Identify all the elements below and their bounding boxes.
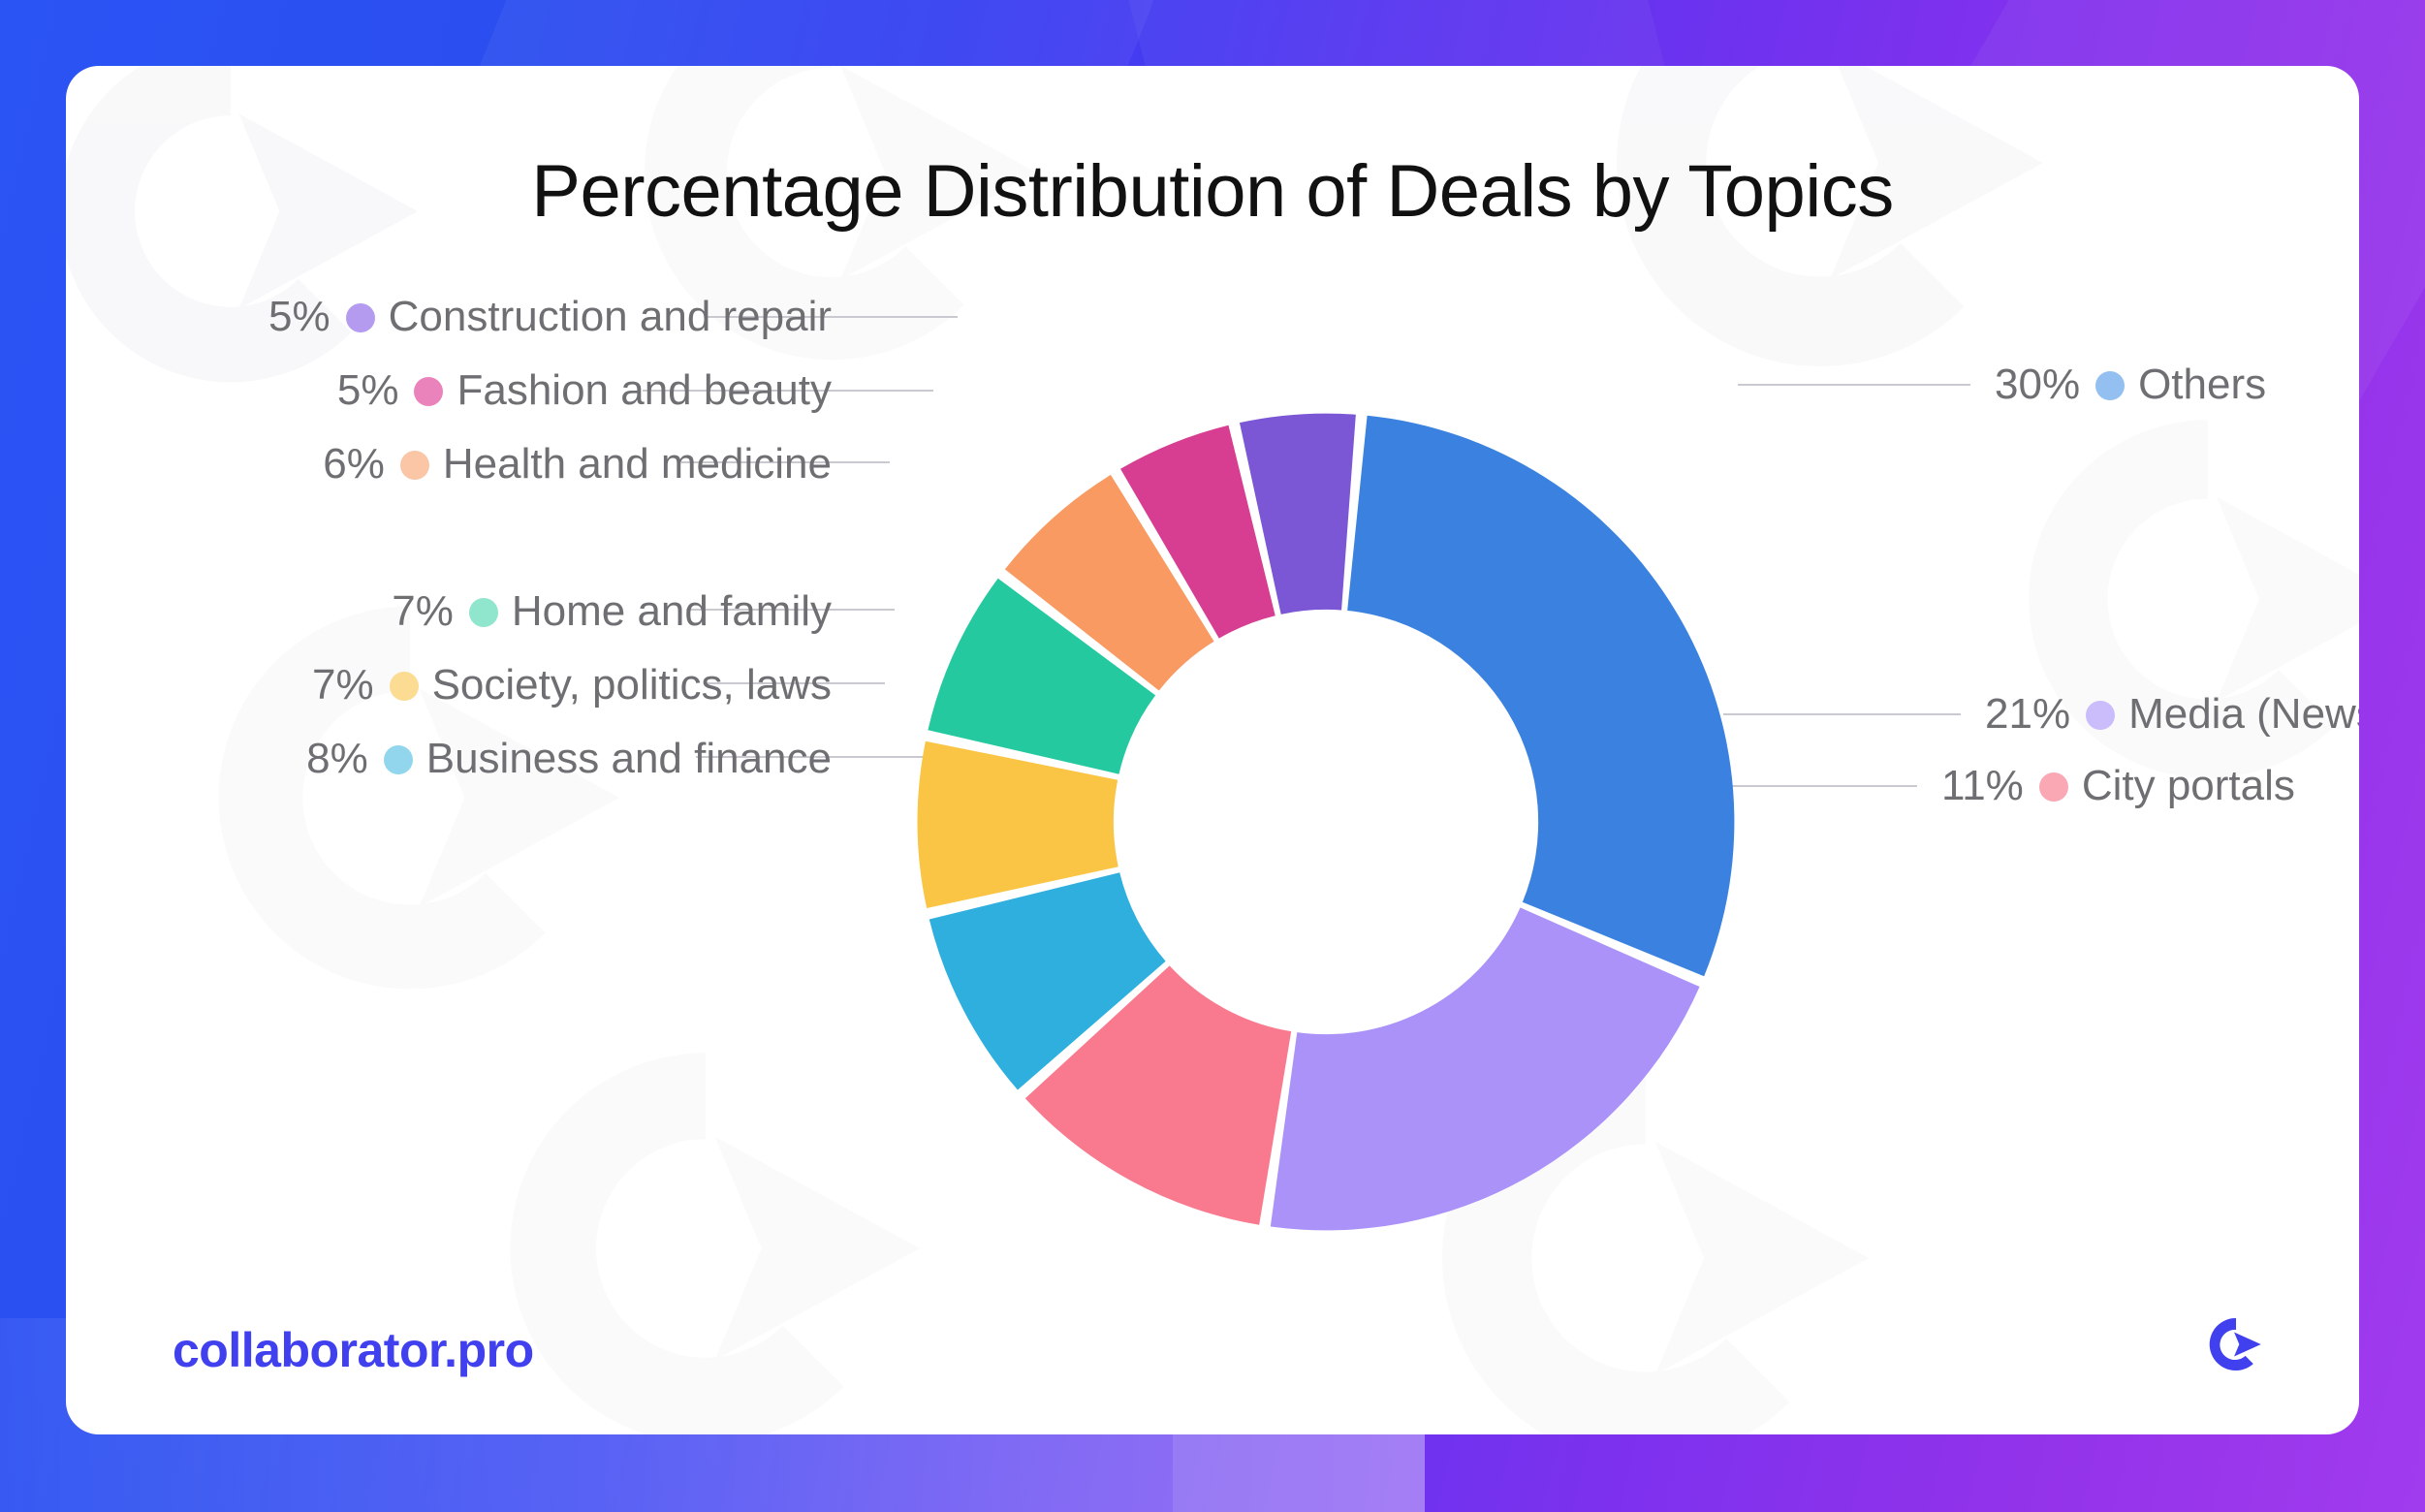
- legend-percent: 21%: [1985, 690, 2070, 738]
- legend-item-health-and-medicine[interactable]: 6%Health and medicine: [66, 440, 832, 488]
- collaborator-logo-icon: [2206, 1314, 2270, 1374]
- legend-item-construction-and-repair[interactable]: 5%Construction and repair: [66, 293, 832, 341]
- legend-label: Fashion and beauty: [457, 366, 832, 414]
- leader-line: [1723, 713, 1961, 715]
- legend-item-home-and-family[interactable]: 7%Home and family: [66, 587, 832, 636]
- legend-label: Health and medicine: [443, 440, 832, 488]
- legend-label: Society, politics, laws: [432, 661, 832, 709]
- legend-percent: 8%: [306, 735, 368, 782]
- legend-label: Home and family: [512, 587, 832, 635]
- legend-color-dot: [384, 745, 413, 774]
- brand-wordmark[interactable]: collaborator.pro: [173, 1322, 534, 1378]
- chart-area: 5%Construction and repair 5%Fashion and …: [66, 66, 2359, 1434]
- legend-label: Business and finance: [426, 735, 832, 782]
- legend-color-dot: [2095, 371, 2125, 400]
- legend-label: City portals: [2082, 762, 2295, 809]
- legend-color-dot: [346, 303, 375, 332]
- legend-color-dot: [414, 377, 443, 406]
- legend-item-city-portals[interactable]: 11%City portals: [1941, 762, 2295, 810]
- legend-label: Media (News): [2128, 690, 2359, 738]
- legend-color-dot: [390, 672, 419, 701]
- leader-line: [1738, 384, 1970, 386]
- legend-percent: 11%: [1941, 762, 2024, 809]
- infographic-stage: Percentage Distribution of Deals by Topi…: [0, 0, 2425, 1512]
- legend-color-dot: [469, 598, 498, 627]
- pie-slice[interactable]: [1347, 416, 1734, 976]
- legend-color-dot: [2039, 772, 2068, 802]
- legend-item-media-news[interactable]: 21%Media (News): [1985, 690, 2359, 739]
- chart-card: Percentage Distribution of Deals by Topi…: [66, 66, 2359, 1434]
- legend-percent: 6%: [323, 440, 385, 488]
- legend-item-others[interactable]: 30%Others: [1995, 361, 2266, 409]
- pie-slice[interactable]: [1271, 907, 1700, 1230]
- legend-label: Others: [2138, 361, 2266, 408]
- donut-chart: [909, 405, 1743, 1239]
- legend-item-society-politics-laws[interactable]: 7%Society, politics, laws: [66, 661, 832, 709]
- legend-percent: 7%: [312, 661, 374, 709]
- legend-color-dot: [400, 451, 429, 480]
- legend-percent: 30%: [1995, 361, 2080, 408]
- legend-percent: 5%: [337, 366, 399, 414]
- legend-item-business-and-finance[interactable]: 8%Business and finance: [66, 735, 832, 783]
- legend-label: Construction and repair: [389, 293, 832, 340]
- legend-percent: 5%: [268, 293, 331, 340]
- legend-color-dot: [2086, 701, 2115, 730]
- legend-percent: 7%: [392, 587, 454, 635]
- legend-item-fashion-and-beauty[interactable]: 5%Fashion and beauty: [66, 366, 832, 415]
